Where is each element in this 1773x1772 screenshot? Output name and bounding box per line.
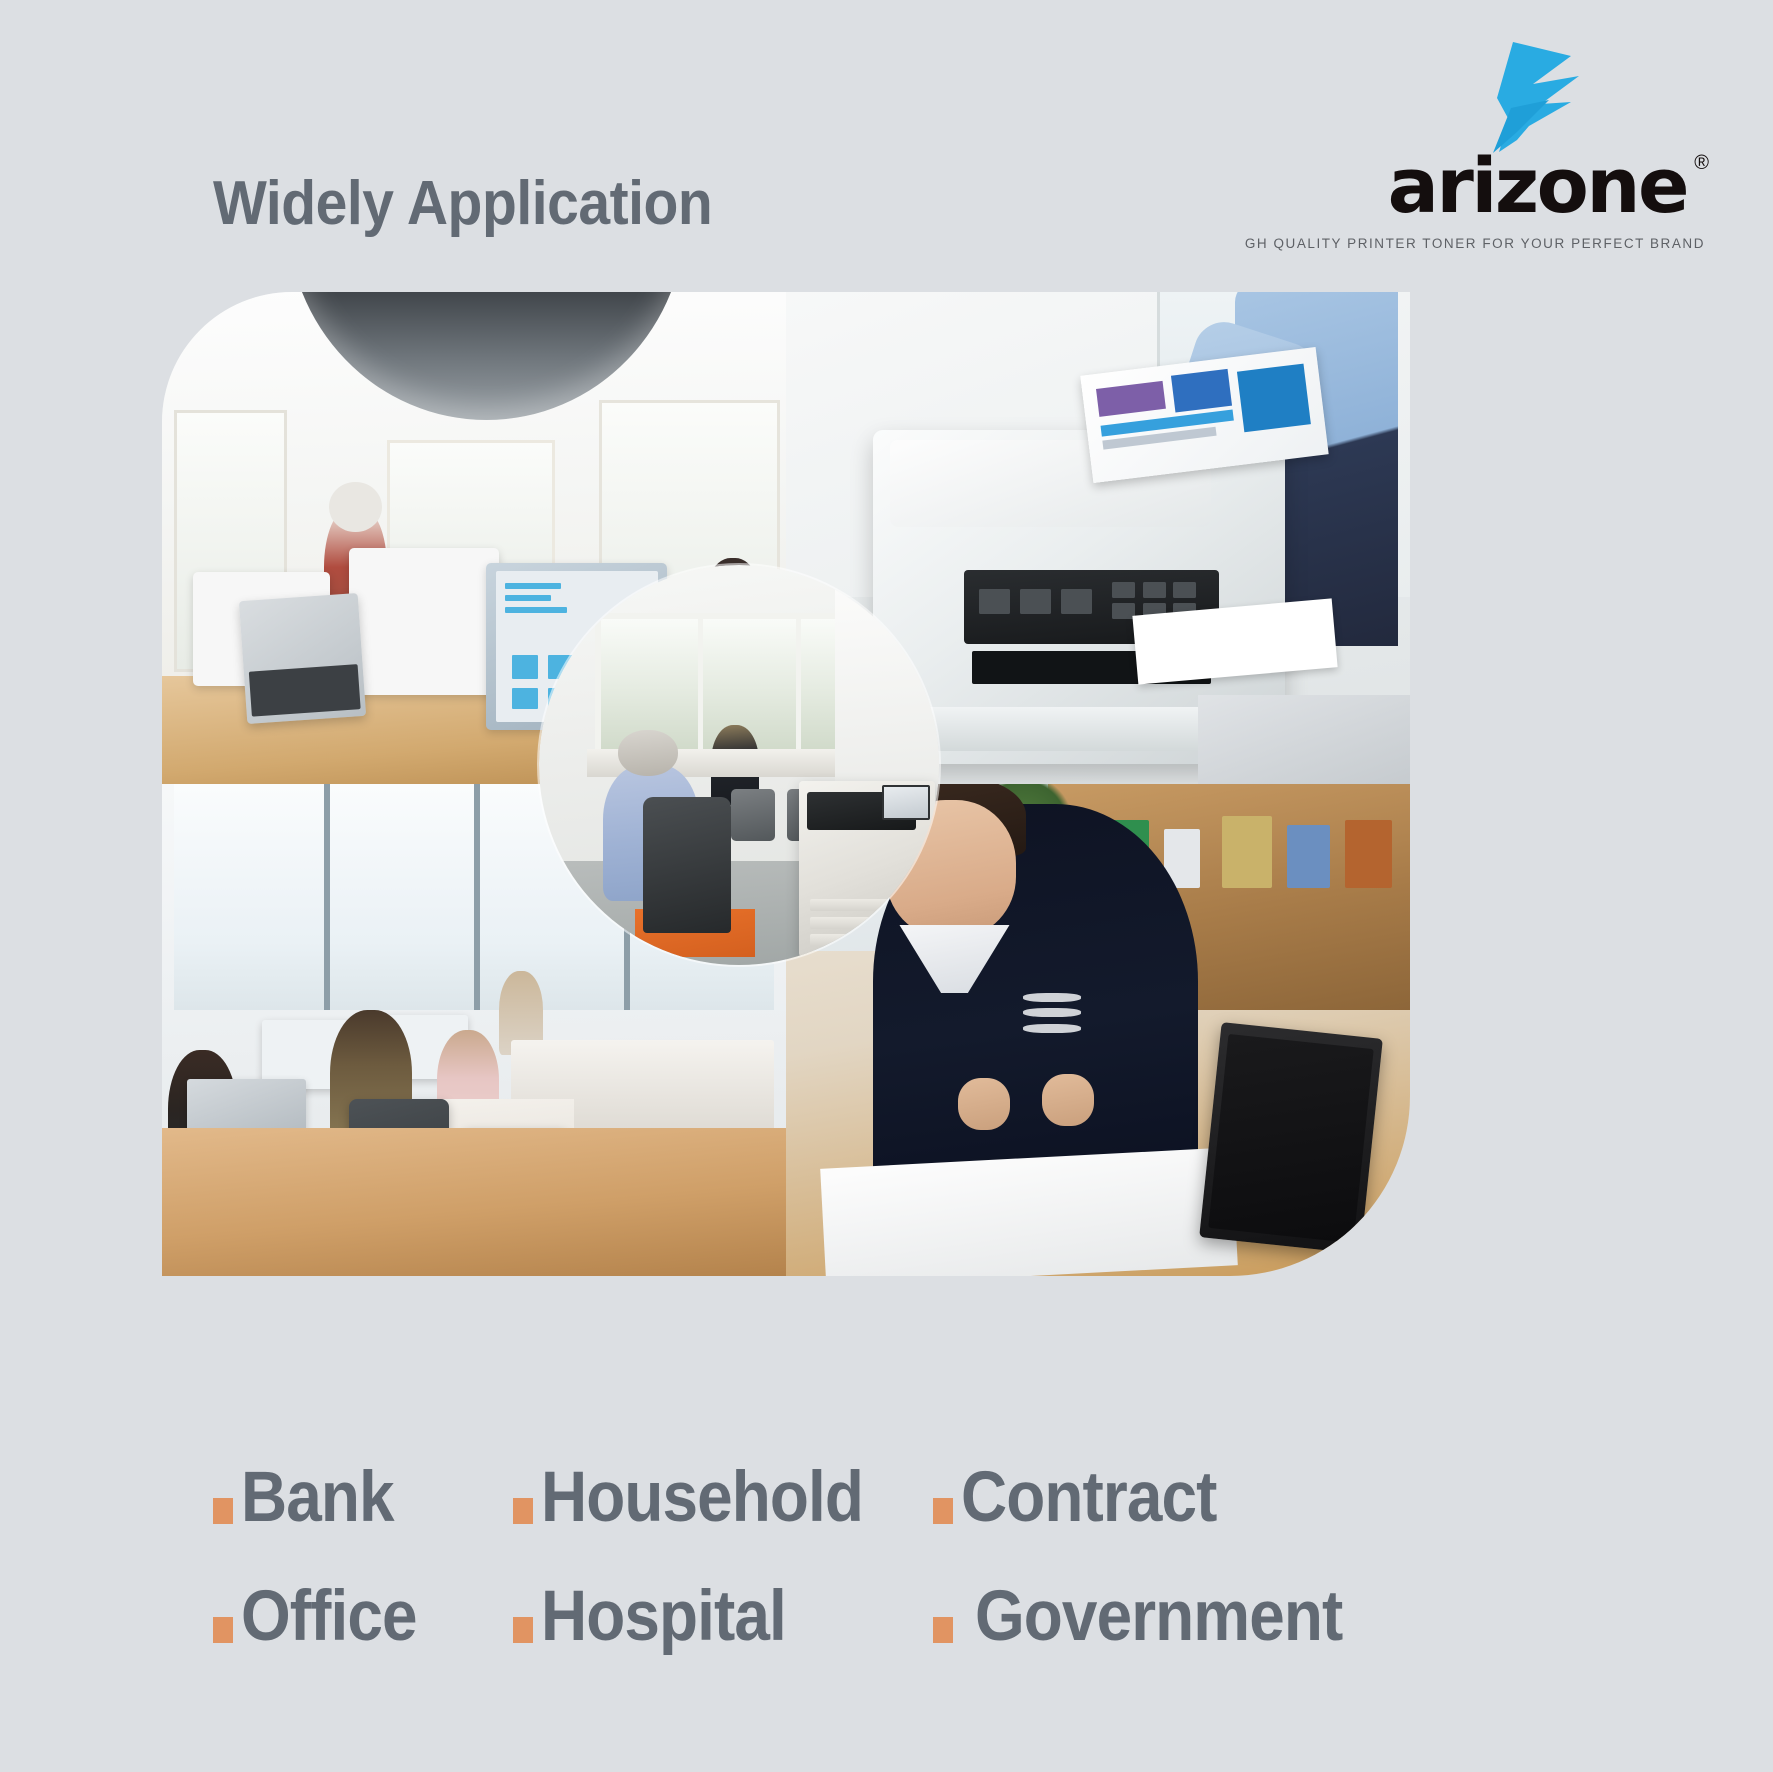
monitor xyxy=(349,548,499,696)
stool xyxy=(731,789,775,841)
brand-tagline: GH QUALITY PRINTER TONER FOR YOUR PERFEC… xyxy=(1245,236,1705,251)
copier-touchscreen xyxy=(882,785,930,821)
hand xyxy=(1042,1074,1094,1126)
uniform-logo xyxy=(1023,981,1081,1046)
documents xyxy=(1198,695,1410,784)
laptop xyxy=(239,593,366,724)
square-bullet-icon xyxy=(933,1617,953,1643)
paper-drawer xyxy=(810,934,913,946)
square-bullet-icon xyxy=(933,1498,953,1524)
copier xyxy=(799,781,935,957)
application-label: Bank xyxy=(241,1462,394,1533)
brand-wordmark: arizone xyxy=(1388,148,1687,224)
brand-logo: arizone ® GH QUALITY PRINTER TONER FOR Y… xyxy=(1413,40,1713,250)
paper-document xyxy=(821,1147,1238,1276)
square-bullet-icon xyxy=(213,1498,233,1524)
paper-drawer xyxy=(810,899,913,911)
tablet xyxy=(1199,1022,1383,1254)
collage-photo-center-circle xyxy=(539,565,939,965)
application-row: Office Hospital Government xyxy=(213,1581,1533,1652)
window-mullion xyxy=(324,784,330,1010)
application-list: Bank Household Contract Office Hospital … xyxy=(213,1462,1533,1700)
paper-drawer xyxy=(810,917,913,929)
desk xyxy=(162,1128,786,1276)
application-item-hospital[interactable]: Hospital xyxy=(513,1581,933,1652)
application-label: Hospital xyxy=(541,1581,786,1652)
paper-tray xyxy=(906,707,1235,750)
application-label: Contract xyxy=(961,1462,1217,1533)
square-bullet-icon xyxy=(513,1498,533,1524)
photo-collage xyxy=(162,292,1410,1276)
application-item-contract[interactable]: Contract xyxy=(933,1462,1373,1533)
keyboard xyxy=(249,665,361,717)
application-item-bank[interactable]: Bank xyxy=(213,1462,513,1533)
square-bullet-icon xyxy=(213,1617,233,1643)
registered-mark-icon: ® xyxy=(1694,152,1709,175)
application-row: Bank Household Contract xyxy=(213,1462,1533,1533)
application-item-government[interactable]: Government xyxy=(933,1581,1373,1652)
square-bullet-icon xyxy=(513,1617,533,1643)
application-label: Government xyxy=(975,1581,1342,1652)
application-item-household[interactable]: Household xyxy=(513,1462,933,1533)
window-mullion xyxy=(474,784,480,1010)
page-title: Widely Application xyxy=(213,168,712,239)
office-chair xyxy=(643,797,731,933)
application-label: Office xyxy=(241,1581,417,1652)
hand xyxy=(958,1078,1010,1130)
application-label: Household xyxy=(541,1462,863,1533)
application-item-office[interactable]: Office xyxy=(213,1581,513,1652)
